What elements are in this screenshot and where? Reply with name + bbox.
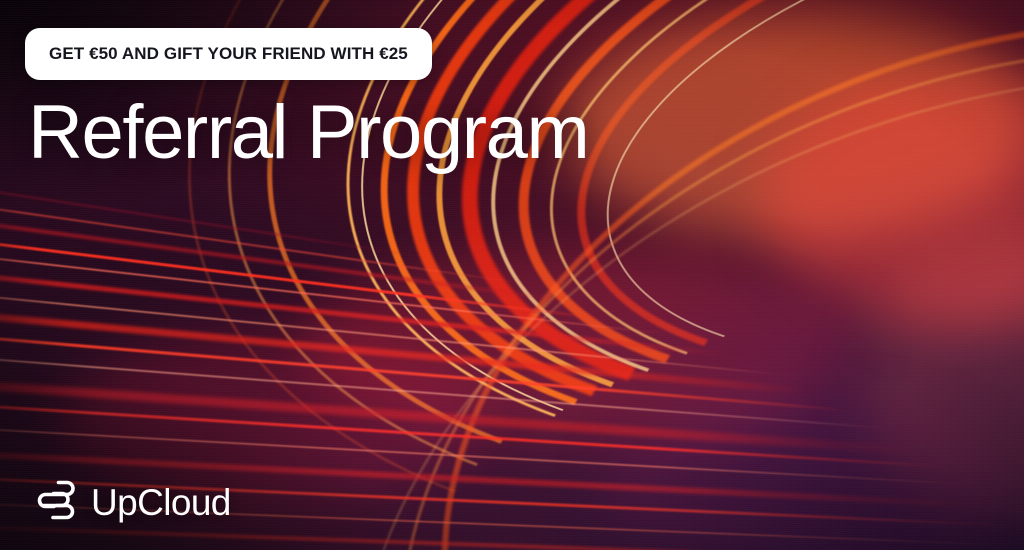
banner-content: GET €50 AND GIFT YOUR FRIEND WITH €25 Re… xyxy=(0,0,1024,550)
upcloud-logo-mark xyxy=(33,479,79,526)
offer-badge[interactable]: GET €50 AND GIFT YOUR FRIEND WITH €25 xyxy=(25,28,432,80)
upcloud-wordmark: UpCloud xyxy=(91,484,231,521)
page-title: Referral Program xyxy=(28,95,588,171)
upcloud-logo[interactable]: UpCloud xyxy=(33,479,231,526)
referral-program-banner: GET €50 AND GIFT YOUR FRIEND WITH €25 Re… xyxy=(0,0,1024,550)
offer-badge-label: GET €50 AND GIFT YOUR FRIEND WITH €25 xyxy=(49,44,408,64)
